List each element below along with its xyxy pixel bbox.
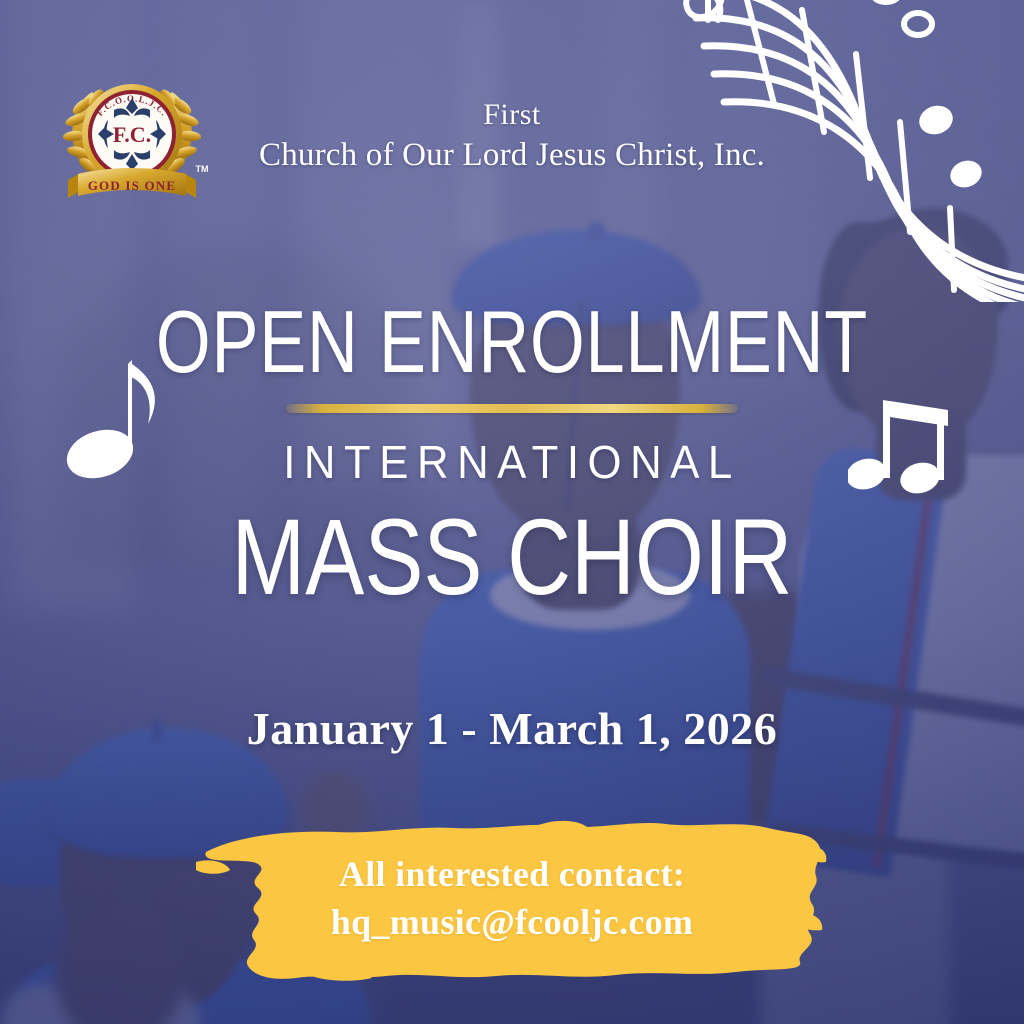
logo-banner-text: GOD IS ONE [88, 178, 177, 193]
contact-banner: All interested contact: hq_music@fcooljc… [196, 818, 828, 984]
header-line-church: Church of Our Lord Jesus Christ, Inc. [0, 134, 1024, 176]
gold-divider-rule [286, 404, 738, 413]
church-name-header: First Church of Our Lord Jesus Christ, I… [0, 96, 1024, 177]
enrollment-date-range: January 1 - March 1, 2026 [0, 702, 1024, 755]
contact-email[interactable]: hq_music@fcooljc.com [331, 899, 693, 947]
headline-mass-choir: MASS CHOIR [92, 503, 932, 611]
enrollment-flyer: F.C.O.O.L.J.C. F.C. GOD IS ONE [0, 0, 1024, 1024]
contact-prompt: All interested contact: [339, 851, 685, 899]
headline-block: OPEN ENROLLMENT INTERNATIONAL MASS CHOIR [0, 300, 1024, 611]
header-line-first: First [0, 96, 1024, 134]
headline-international: INTERNATIONAL [26, 435, 999, 489]
headline-open-enrollment: OPEN ENROLLMENT [102, 300, 921, 384]
